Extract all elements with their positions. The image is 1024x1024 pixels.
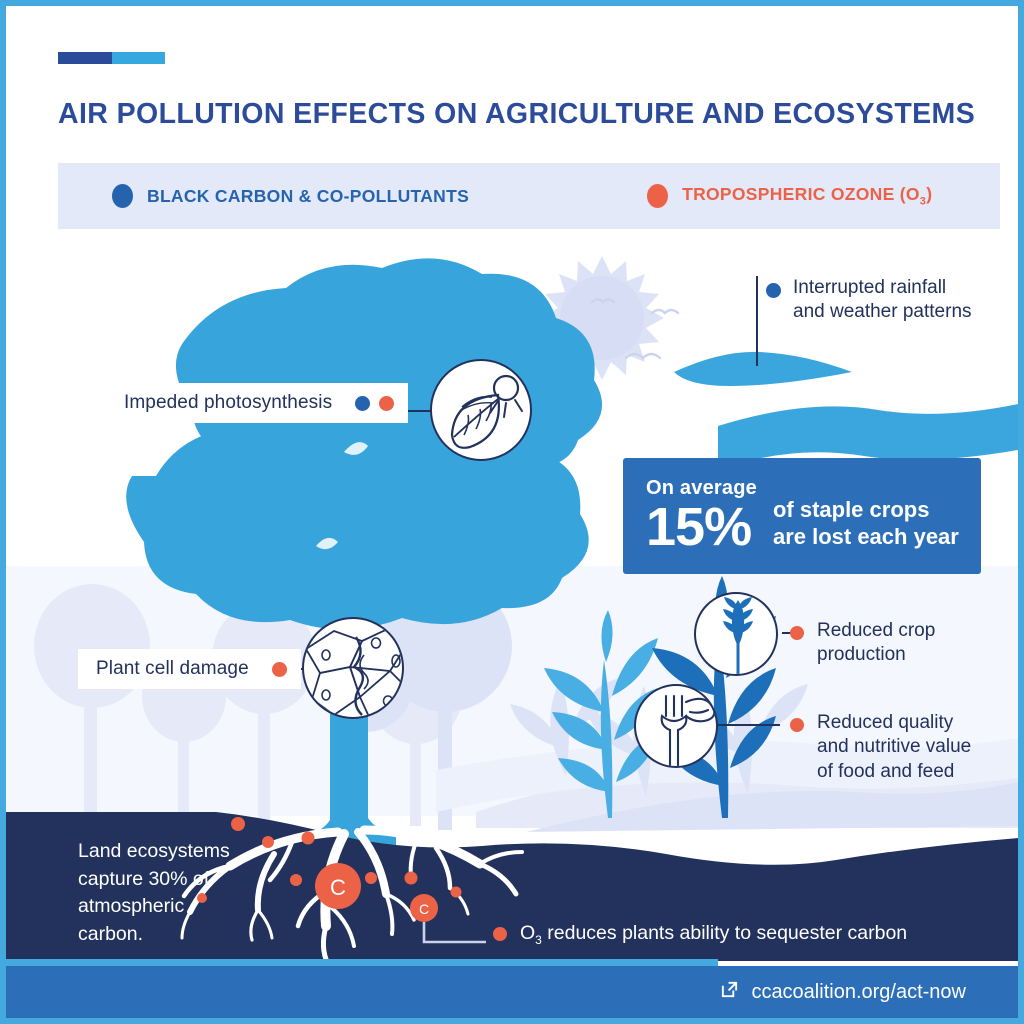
accent-bars <box>58 52 165 64</box>
callout-dots-plant-cell <box>263 662 287 677</box>
background-trees <box>34 584 462 826</box>
legend-dot-ozone <box>647 184 668 208</box>
stat-on-average-label: On average <box>646 478 757 498</box>
note-ozone-sequester-carbon: O3 reduces plants ability to sequester c… <box>493 922 907 947</box>
hill-shape <box>674 352 852 386</box>
stat-left-column: On average 15% <box>623 478 757 554</box>
stat-right-text: of staple crops are lost each year <box>773 496 959 551</box>
callout-plant-cell-damage: Plant cell damage <box>78 649 301 689</box>
legend-dot-black-carbon <box>112 184 133 208</box>
leader-line-reduced-quality <box>718 724 780 726</box>
canopy-gaps <box>316 442 368 549</box>
note-text-reduced-quality: Reduced quality and nutritive value of f… <box>817 711 971 784</box>
note-text-rainfall: Interrupted rainfall and weather pattern… <box>793 276 972 324</box>
plant-cell-icon <box>302 617 404 719</box>
infographic-poster: C C AIR POLLUTION EFFECTS ON AGRICULTURE… <box>0 0 1024 1024</box>
svg-text:C: C <box>330 875 346 900</box>
legend-band: BLACK CARBON & CO-POLLUTANTS TROPOSPHERI… <box>58 163 1000 229</box>
land-text-line4: carbon. <box>78 921 288 949</box>
note-dot-crop-production <box>790 626 804 640</box>
carbon-marker-small: C <box>410 894 438 922</box>
note-crop-line2: production <box>817 644 906 665</box>
land-text-line3: atmospheric <box>78 893 288 921</box>
legend-label-ozone-tail: ) <box>926 184 932 204</box>
note-qual-line2: and nutritive value <box>817 736 971 757</box>
note-reduced-crop-production: Reduced crop production <box>790 619 935 668</box>
bird-icon <box>592 300 678 359</box>
note-sequester-main: O <box>520 922 535 944</box>
leaf-sun-icon <box>430 359 532 461</box>
footer-link[interactable]: ccacoalition.org/act-now <box>720 980 966 1004</box>
accent-bar-light <box>112 52 165 64</box>
sun-icon <box>540 256 664 380</box>
accent-bar-dark <box>58 52 112 64</box>
land-text-line1: Land ecosystems <box>78 838 288 866</box>
note-dot-rainfall <box>766 283 781 298</box>
hand-fork-icon <box>634 684 718 768</box>
legend-label-ozone: TROPOSPHERIC OZONE (O3) <box>682 184 932 208</box>
legend-item-ozone: TROPOSPHERIC OZONE (O3) <box>647 184 932 208</box>
tree-canopy <box>126 258 602 629</box>
wheat-icon <box>694 592 778 676</box>
legend-label-black-carbon: BLACK CARBON & CO-POLLUTANTS <box>147 186 469 207</box>
callout-dot-black-carbon <box>355 396 370 411</box>
callout-dot-ozone <box>379 396 394 411</box>
note-reduced-quality: Reduced quality and nutritive value of f… <box>790 711 971 784</box>
note-qual-line1: Reduced quality <box>817 712 953 733</box>
footer-accent-strip <box>6 959 718 966</box>
note-dot-reduced-quality <box>790 718 804 732</box>
callout-label-photosynthesis: Impeded photosynthesis <box>124 392 332 414</box>
carbon-marker-large: C <box>315 863 361 909</box>
callout-label-plant-cell: Plant cell damage <box>96 658 249 680</box>
land-text-line2: capture 30% of <box>78 866 288 894</box>
legend-item-black-carbon: BLACK CARBON & CO-POLLUTANTS <box>112 184 469 208</box>
note-text-crop-production: Reduced crop production <box>817 619 935 668</box>
stat-box-crop-loss: On average 15% of staple crops are lost … <box>623 458 981 574</box>
note-qual-line3: of food and feed <box>817 761 954 782</box>
note-sequester-tail: reduces plants ability to sequester carb… <box>542 922 907 944</box>
page-title: AIR POLLUTION EFFECTS ON AGRICULTURE AND… <box>58 99 988 130</box>
callout-dots-photosynthesis <box>346 396 394 411</box>
stat-text-line2: are lost each year <box>773 523 959 551</box>
note-text-sequester: O3 reduces plants ability to sequester c… <box>520 922 907 947</box>
note-crop-line1: Reduced crop <box>817 620 935 641</box>
external-link-icon <box>720 980 739 1004</box>
field-shape-2 <box>526 782 1018 832</box>
note-sequester-sub: 3 <box>535 933 542 947</box>
note-interrupted-rainfall: Interrupted rainfall and weather pattern… <box>766 276 972 324</box>
note-text-rainfall-line2: and weather patterns <box>793 301 972 322</box>
callout-dot-ozone-cell <box>272 662 287 677</box>
callout-impeded-photosynthesis: Impeded photosynthesis <box>106 383 408 423</box>
stat-value: 15% <box>646 500 757 554</box>
svg-text:C: C <box>419 901 429 917</box>
note-text-rainfall-line1: Interrupted rainfall <box>793 277 946 298</box>
carbon-leader-line <box>424 922 486 942</box>
stat-text-line1: of staple crops <box>773 496 959 524</box>
leader-line-rainfall <box>756 276 758 366</box>
footer-url: ccacoalition.org/act-now <box>751 981 966 1004</box>
legend-label-ozone-main: TROPOSPHERIC OZONE (O <box>682 184 920 204</box>
footer-bar: ccacoalition.org/act-now <box>6 966 1018 1018</box>
land-ecosystems-text: Land ecosystems capture 30% of atmospher… <box>78 838 288 949</box>
note-dot-sequester <box>493 927 507 941</box>
